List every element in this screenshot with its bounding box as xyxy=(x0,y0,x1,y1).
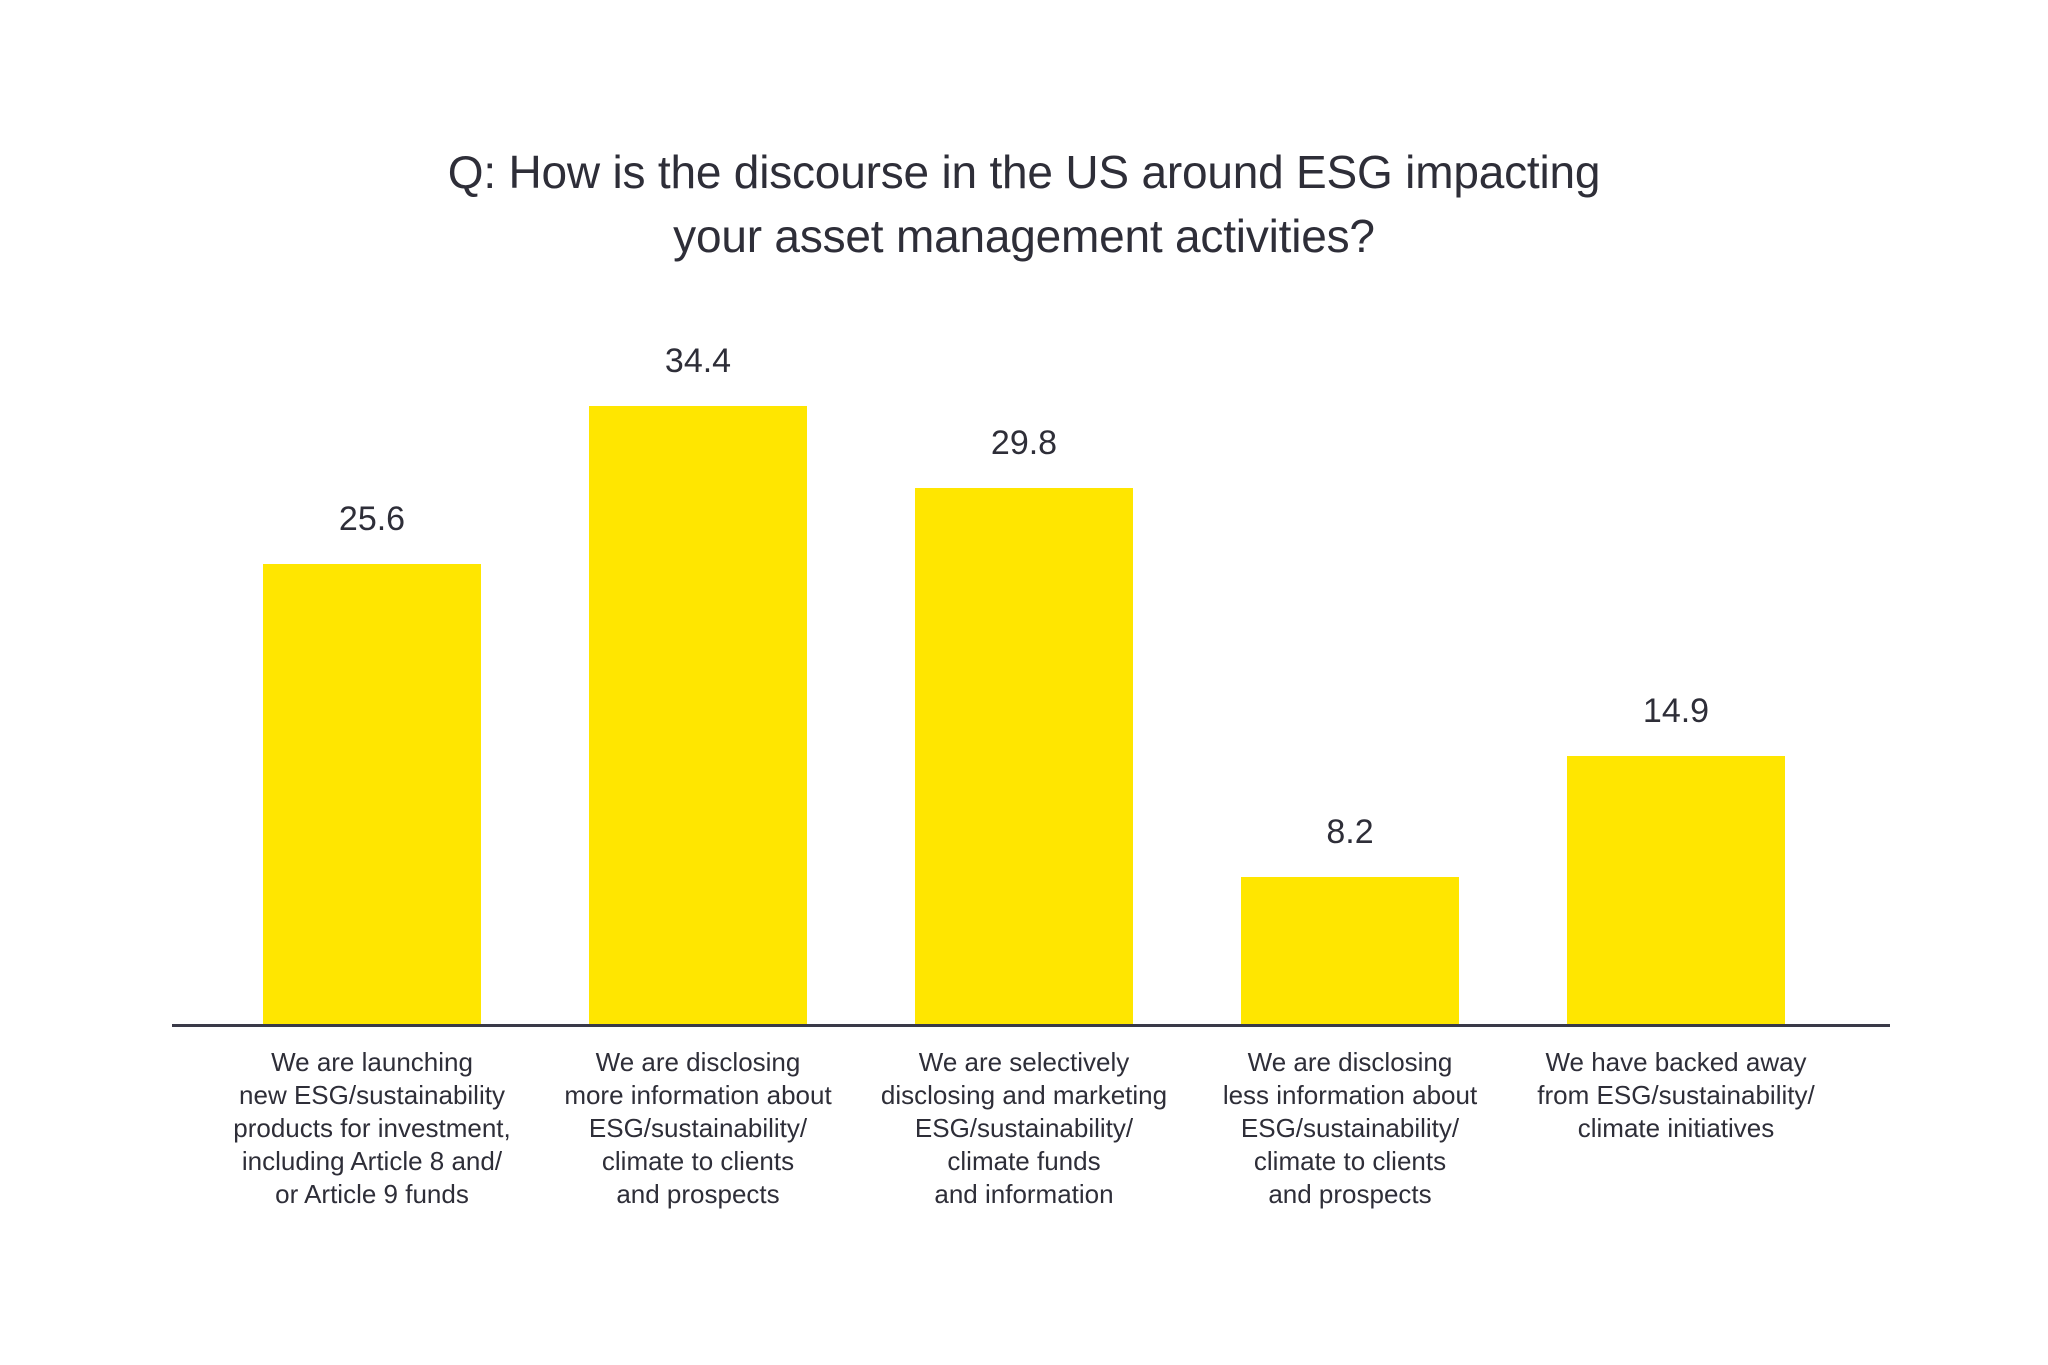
category-label-line: We are selectively xyxy=(874,1046,1174,1079)
category-label: We are disclosingless information aboutE… xyxy=(1200,1046,1500,1211)
category-label: We are selectivelydisclosing and marketi… xyxy=(874,1046,1174,1211)
category-label-line: ESG/sustainability/ xyxy=(548,1112,848,1145)
category-label-line: and prospects xyxy=(1200,1178,1500,1211)
category-label-line: including Article 8 and/ xyxy=(222,1145,522,1178)
category-label-line: We are disclosing xyxy=(548,1046,848,1079)
bar-value-label: 14.9 xyxy=(1527,694,1825,728)
bar-value-label: 25.6 xyxy=(223,502,521,536)
x-axis-line xyxy=(172,1024,1890,1027)
category-label: We have backed awayfrom ESG/sustainabili… xyxy=(1526,1046,1826,1145)
category-label-line: climate funds xyxy=(874,1145,1174,1178)
bar[interactable] xyxy=(1567,756,1785,1024)
bar-value-label: 34.4 xyxy=(549,344,847,378)
chart-canvas: Q: How is the discourse in the US around… xyxy=(0,0,2048,1365)
category-label-line: and prospects xyxy=(548,1178,848,1211)
category-label: We are launchingnew ESG/sustainabilitypr… xyxy=(222,1046,522,1211)
category-label-line: ESG/sustainability/ xyxy=(874,1112,1174,1145)
bar[interactable] xyxy=(1241,877,1459,1024)
category-label-line: climate to clients xyxy=(1200,1145,1500,1178)
bar[interactable] xyxy=(263,564,481,1024)
category-label-line: new ESG/sustainability xyxy=(222,1079,522,1112)
bar-value-label: 8.2 xyxy=(1201,815,1499,849)
category-label-line: products for investment, xyxy=(222,1112,522,1145)
bar-value-label: 29.8 xyxy=(875,426,1173,460)
category-label: We are disclosingmore information aboutE… xyxy=(548,1046,848,1211)
category-label-line: less information about xyxy=(1200,1079,1500,1112)
category-label-line: and information xyxy=(874,1178,1174,1211)
category-label-line: disclosing and marketing xyxy=(874,1079,1174,1112)
category-label-line: We have backed away xyxy=(1526,1046,1826,1079)
bar[interactable] xyxy=(589,406,807,1025)
category-label-line: or Article 9 funds xyxy=(222,1178,522,1211)
category-label-line: more information about xyxy=(548,1079,848,1112)
category-label-line: from ESG/sustainability/ xyxy=(1526,1079,1826,1112)
category-label-line: climate to clients xyxy=(548,1145,848,1178)
plot-area: 25.6We are launchingnew ESG/sustainabili… xyxy=(0,0,2048,1365)
category-label-line: We are launching xyxy=(222,1046,522,1079)
category-label-line: climate initiatives xyxy=(1526,1112,1826,1145)
category-label-line: ESG/sustainability/ xyxy=(1200,1112,1500,1145)
category-label-line: We are disclosing xyxy=(1200,1046,1500,1079)
bar[interactable] xyxy=(915,488,1133,1024)
